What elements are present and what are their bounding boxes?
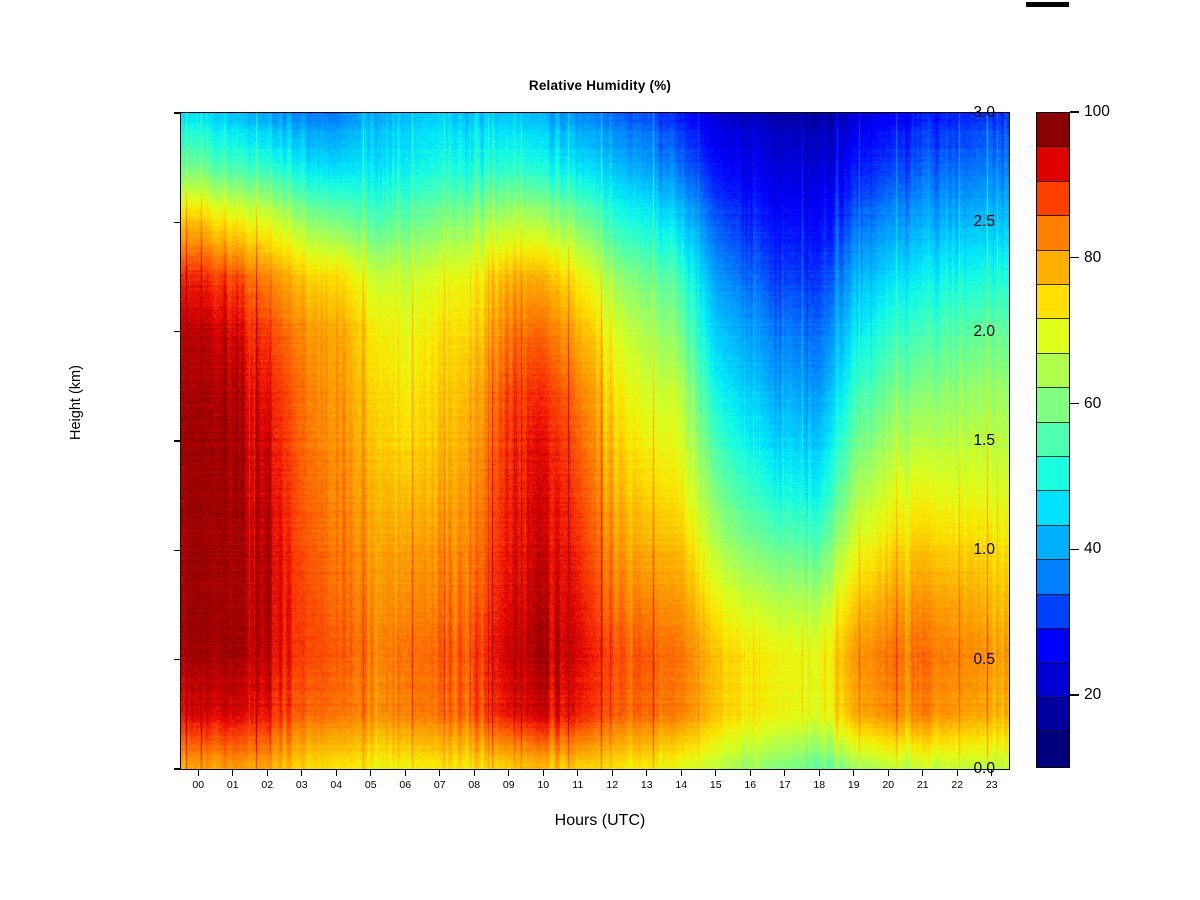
colorbar-band [1037, 491, 1069, 525]
colorbar-band [1037, 526, 1069, 560]
x-axis-tick-label: 00 [192, 779, 204, 791]
colorbar-band [1037, 423, 1069, 457]
colorbar-band [1037, 664, 1069, 698]
y-axis-tick-label: 1.0 [973, 541, 995, 559]
y-axis-tick [174, 112, 181, 113]
x-axis-tick-label: 13 [641, 779, 653, 791]
colorbar-band [1037, 560, 1069, 594]
x-axis-tick-label: 08 [468, 779, 480, 791]
colorbar-tick-label: 80 [1084, 249, 1101, 267]
colorbar-band [1037, 629, 1069, 663]
x-axis-tick [232, 769, 233, 776]
x-axis-tick-label: 22 [951, 779, 963, 791]
colorbar-tick [1070, 694, 1079, 695]
colorbar-gradient [1036, 112, 1070, 768]
plot-area: 0.00.51.01.52.02.53.00001020304050607080… [180, 112, 1010, 770]
x-axis-tick-label: 07 [434, 779, 446, 791]
x-axis-tick [543, 769, 544, 776]
x-axis-tick-label: 01 [227, 779, 239, 791]
x-axis-tick-label: 06 [399, 779, 411, 791]
x-axis-tick [198, 769, 199, 776]
x-axis-tick [888, 769, 889, 776]
x-axis-tick [474, 769, 475, 776]
x-axis-tick-label: 02 [261, 779, 273, 791]
x-axis-tick-label: 03 [296, 779, 308, 791]
colorbar-band [1037, 698, 1069, 732]
x-axis-tick-label: 05 [365, 779, 377, 791]
y-axis-tick-label: 2.0 [973, 323, 995, 341]
x-axis-tick-label: 14 [675, 779, 687, 791]
colorbar-tick-label: 40 [1084, 540, 1101, 558]
colorbar-tick [1070, 111, 1079, 112]
x-axis-title: Hours (UTC) [0, 812, 1200, 830]
x-axis-tick-label: 10 [537, 779, 549, 791]
x-axis-tick [301, 769, 302, 776]
y-axis-tick-label: 2.5 [973, 213, 995, 231]
heatmap-image [181, 113, 1009, 769]
x-axis-tick-label: 21 [917, 779, 929, 791]
colorbar-band [1037, 457, 1069, 491]
x-axis-tick-label: 15 [710, 779, 722, 791]
colorbar-band [1037, 147, 1069, 181]
page-title: Relative Humidity (%) [0, 78, 1200, 93]
colorbar-band [1037, 251, 1069, 285]
x-axis-tick-label: 04 [330, 779, 342, 791]
y-axis-tick [174, 659, 181, 660]
x-axis-tick [957, 769, 958, 776]
x-axis-tick [612, 769, 613, 776]
top-edge-artifact [1026, 2, 1069, 7]
colorbar-band [1037, 113, 1069, 147]
colorbar-tick [1070, 549, 1079, 550]
x-axis-tick [681, 769, 682, 776]
colorbar-band [1037, 354, 1069, 388]
x-axis-tick [267, 769, 268, 776]
x-axis-tick-label: 18 [813, 779, 825, 791]
x-axis-tick-label: 09 [503, 779, 515, 791]
colorbar: 20406080100 [1036, 112, 1070, 768]
x-axis-tick [405, 769, 406, 776]
y-axis-title: Height (km) [68, 365, 84, 440]
y-axis-tick-label: 3.0 [973, 104, 995, 122]
y-axis-tick [174, 550, 181, 551]
colorbar-band [1037, 595, 1069, 629]
colorbar-band [1037, 216, 1069, 250]
x-axis-tick-label: 11 [572, 779, 583, 791]
x-axis-tick [853, 769, 854, 776]
x-axis-tick [819, 769, 820, 776]
x-axis-tick-label: 20 [882, 779, 894, 791]
x-axis-tick-label: 23 [986, 779, 998, 791]
y-axis-tick [174, 440, 181, 441]
y-axis-tick-label: 0.5 [973, 651, 995, 669]
x-axis-tick-label: 19 [848, 779, 860, 791]
colorbar-tick [1070, 403, 1079, 404]
colorbar-tick-label: 60 [1084, 395, 1101, 413]
colorbar-band [1037, 388, 1069, 422]
chart-canvas: Relative Humidity (%) 0.00.51.01.52.02.5… [0, 0, 1200, 900]
y-axis-tick-label: 1.5 [973, 432, 995, 450]
colorbar-tick-label: 20 [1084, 686, 1101, 704]
x-axis-tick [750, 769, 751, 776]
y-axis-tick [174, 768, 181, 769]
x-axis-tick [991, 769, 992, 776]
x-axis-tick [577, 769, 578, 776]
y-axis-tick [174, 222, 181, 223]
colorbar-band [1037, 732, 1069, 766]
x-axis-tick [646, 769, 647, 776]
x-axis-tick [336, 769, 337, 776]
x-axis-tick-label: 17 [779, 779, 791, 791]
x-axis-tick [439, 769, 440, 776]
x-axis-tick-label: 12 [606, 779, 618, 791]
x-axis-tick [508, 769, 509, 776]
x-axis-tick-label: 16 [744, 779, 756, 791]
colorbar-band [1037, 182, 1069, 216]
x-axis-tick [715, 769, 716, 776]
colorbar-band [1037, 285, 1069, 319]
y-axis-tick [174, 331, 181, 332]
x-axis-tick [922, 769, 923, 776]
colorbar-tick-label: 100 [1084, 103, 1110, 121]
colorbar-tick [1070, 257, 1079, 258]
x-axis-tick [784, 769, 785, 776]
colorbar-band [1037, 319, 1069, 353]
x-axis-tick [370, 769, 371, 776]
